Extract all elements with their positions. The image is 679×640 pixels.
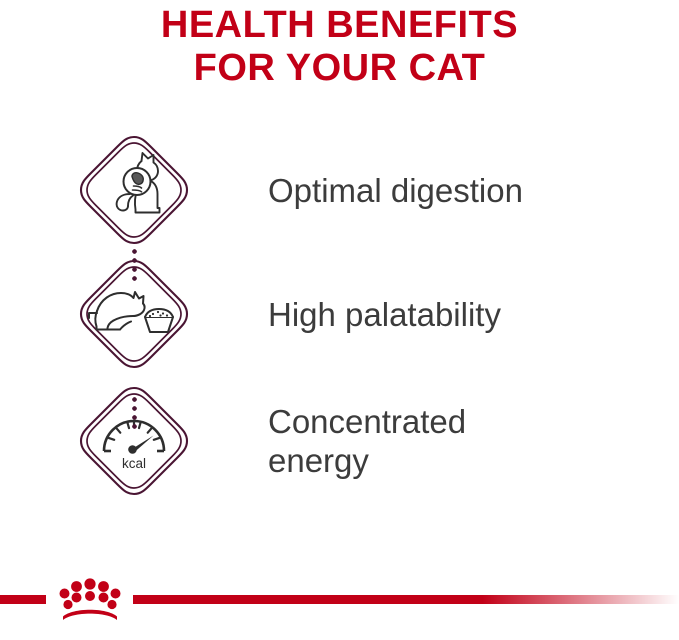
benefit-item-concentrated-energy: kcal Concentrated energy: [0, 376, 679, 506]
benefits-list: Optimal digestion: [0, 128, 679, 506]
benefit-icon-cell: [0, 255, 268, 373]
benefit-icon-cell: [0, 131, 268, 249]
benefit-label-concentrated-energy-line-2: energy: [268, 441, 659, 480]
benefit-label-cell: Concentrated energy: [268, 402, 679, 480]
kcal-gauge-icon: kcal: [75, 382, 193, 500]
benefit-label-high-palatability: High palatability: [268, 295, 659, 334]
benefit-label-concentrated-energy-line-1: Concentrated: [268, 402, 659, 441]
cat-eating-bowl-icon: [75, 255, 193, 373]
kcal-caption: kcal: [122, 456, 146, 471]
brand-bar-right: [133, 595, 679, 604]
royal-canin-crown-logo: [46, 572, 134, 620]
brand-bar-left: [0, 595, 46, 604]
brand-footer: [0, 572, 679, 640]
page-title: HEALTH BENEFITS FOR YOUR CAT: [0, 4, 679, 90]
page-title-line-2: FOR YOUR CAT: [0, 47, 679, 90]
health-benefits-panel: HEALTH BENEFITS FOR YOUR CAT: [0, 0, 679, 640]
cat-digestion-icon: [75, 131, 193, 249]
benefit-icon-cell: kcal: [0, 382, 268, 500]
benefit-item-optimal-digestion: Optimal digestion: [0, 128, 679, 252]
benefit-item-high-palatability: High palatability: [0, 252, 679, 376]
benefit-label-optimal-digestion: Optimal digestion: [268, 171, 659, 210]
benefit-label-cell: High palatability: [268, 295, 679, 334]
benefit-label-cell: Optimal digestion: [268, 171, 679, 210]
page-title-line-1: HEALTH BENEFITS: [0, 4, 679, 47]
